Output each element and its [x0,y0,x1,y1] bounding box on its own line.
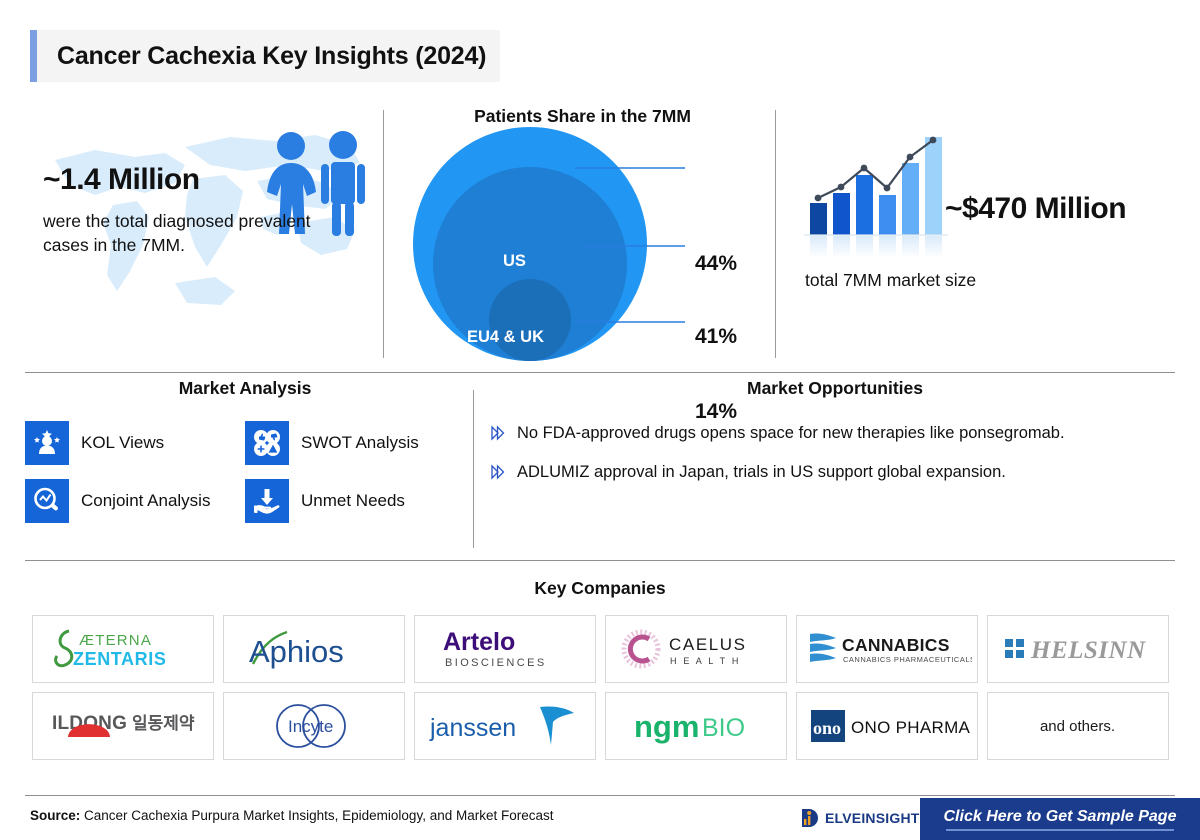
vertical-divider-left [383,110,384,358]
svg-text:Aphios: Aphios [249,634,344,669]
company-logo-helsinn[interactable]: HELSINN [987,615,1169,683]
ildong-logo: ILDONG 일동제약 [40,703,205,749]
aphios-logo: Aphios [239,626,389,672]
source-text: Cancer Cachexia Purpura Market Insights,… [84,808,553,823]
market-analysis-item-kol-views[interactable]: KOL Views [25,421,245,465]
section-divider-1 [25,372,1175,373]
svg-text:janssen: janssen [429,714,516,742]
market-analysis-label: KOL Views [81,433,164,453]
ono-pharma-logo: ono ONO PHARMA [803,704,971,748]
swot-analysis-icon [245,421,289,465]
prevalence-value: ~1.4 Million [43,163,200,197]
chevron-right-icon [490,464,506,480]
company-logo-aphios[interactable]: Aphios [223,615,405,683]
header-accent-bar [30,30,37,82]
market-opportunities-section: Market Opportunities No FDA-approved dru… [490,378,1180,502]
analysis-opportunities-row: Market Analysis KOL Views [0,378,1200,558]
cta-underline [946,829,1174,831]
source-label: Source: [30,808,80,823]
company-logo-ngmbio[interactable]: ngm BIO [605,692,787,760]
company-logo-janssen[interactable]: janssen [414,692,596,760]
market-analysis-item-conjoint-analysis[interactable]: Conjoint Analysis [25,479,245,523]
artelo-biosciences-logo: Artelo BIOSCIENCES [425,624,585,674]
market-size-value: ~$470 Million [945,192,1126,226]
svg-text:ONO PHARMA: ONO PHARMA [851,718,971,737]
market-analysis-label: Conjoint Analysis [81,491,210,511]
aeterna-zentaris-logo: ÆTERNA ZENTARIS [43,623,203,675]
market-size-description: total 7MM market size [805,270,976,291]
company-logo-aeterna-zentaris[interactable]: ÆTERNA ZENTARIS [32,615,214,683]
svg-text:ÆTERNA: ÆTERNA [79,632,152,649]
market-opportunities-title: Market Opportunities [490,378,1180,399]
region-percent-eu4-uk: 41% [695,325,737,349]
ngmbio-logo: ngm BIO [616,704,776,748]
svg-text:H E A L T H: H E A L T H [670,656,741,666]
svg-text:ono: ono [813,718,841,738]
unmet-needs-icon [245,479,289,523]
market-analysis-item-unmet-needs[interactable]: Unmet Needs [245,479,465,523]
company-logo-caelus-health[interactable]: CAELUS H E A L T H [605,615,787,683]
delveinsight-mark-icon [800,807,822,829]
svg-text:일동제약: 일동제약 [132,713,195,734]
delveinsight-wordmark: ELVEINSIGHT [825,810,920,826]
section-divider-3 [25,795,1175,796]
svg-text:Incyte: Incyte [288,717,333,736]
cta-label: Click Here to Get Sample Page [944,808,1177,826]
key-companies-section: Key Companies ÆTERNA ZENTARIS Aphios Art… [0,578,1200,760]
source-line: Source: Cancer Cachexia Purpura Market I… [30,808,554,823]
prevalence-description: were the total diagnosed prevalent cases… [43,210,313,257]
svg-text:CAELUS: CAELUS [669,635,747,654]
page-title: Cancer Cachexia Key Insights (2024) [37,42,486,71]
company-logo-artelo-biosciences[interactable]: Artelo BIOSCIENCES [414,615,596,683]
helsinn-logo: HELSINN [995,628,1160,670]
company-logo-incyte[interactable]: Incyte [223,692,405,760]
market-analysis-item-swot-analysis[interactable]: SWOT Analysis [245,421,465,465]
company-logo-and-others: and others. [987,692,1169,760]
svg-text:BIOSCIENCES: BIOSCIENCES [445,657,547,669]
opportunity-text: No FDA-approved drugs opens space for ne… [517,423,1065,444]
svg-text:Artelo: Artelo [443,628,515,656]
market-size-panel: ~$470 Million total 7MM market size [790,110,1185,360]
kol-views-icon [25,421,69,465]
and-others-label: and others. [1040,718,1115,735]
svg-text:BIO: BIO [702,714,745,742]
janssen-logo: janssen [422,701,587,751]
svg-text:ngm: ngm [634,709,699,744]
get-sample-page-button[interactable]: Click Here to Get Sample Page [920,798,1200,840]
market-analysis-label: SWOT Analysis [301,433,419,453]
delveinsight-logo[interactable]: ELVEINSIGHT [800,807,920,829]
conjoint-analysis-icon [25,479,69,523]
svg-text:CANNABICS PHARMACEUTICALS: CANNABICS PHARMACEUTICALS [843,655,972,664]
cannabics-logo: CANNABICS CANNABICS PHARMACEUTICALS [802,626,972,672]
opportunity-item: No FDA-approved drugs opens space for ne… [490,423,1180,444]
bar-chart-growth-icon [800,135,950,260]
key-companies-title: Key Companies [0,578,1200,599]
opportunity-text: ADLUMIZ approval in Japan, trials in US … [517,462,1006,483]
top-metrics-row: ~1.4 Million were the total diagnosed pr… [0,100,1200,365]
company-logo-ildong[interactable]: ILDONG 일동제약 [32,692,214,760]
caelus-health-logo: CAELUS H E A L T H [613,626,778,672]
vertical-divider-middle [473,390,474,548]
company-logo-cannabics[interactable]: CANNABICS CANNABICS PHARMACEUTICALS [796,615,978,683]
svg-text:CANNABICS: CANNABICS [842,635,950,655]
company-logo-ono-pharma[interactable]: ono ONO PHARMA [796,692,978,760]
incyte-logo: Incyte [254,699,374,753]
market-analysis-label: Unmet Needs [301,491,405,511]
page-footer: Source: Cancer Cachexia Purpura Market I… [0,798,1200,840]
section-divider-2 [25,560,1175,561]
page-header: Cancer Cachexia Key Insights (2024) [30,30,500,82]
opportunity-item: ADLUMIZ approval in Japan, trials in US … [490,462,1180,483]
region-percent-us: 44% [695,252,737,276]
prevalence-panel: ~1.4 Million were the total diagnosed pr… [25,105,380,360]
market-analysis-title: Market Analysis [25,378,465,399]
market-analysis-section: Market Analysis KOL Views [25,378,465,523]
chevron-right-icon [490,425,506,441]
svg-text:HELSINN: HELSINN [1030,637,1146,664]
svg-text:ZENTARIS: ZENTARIS [73,649,166,669]
